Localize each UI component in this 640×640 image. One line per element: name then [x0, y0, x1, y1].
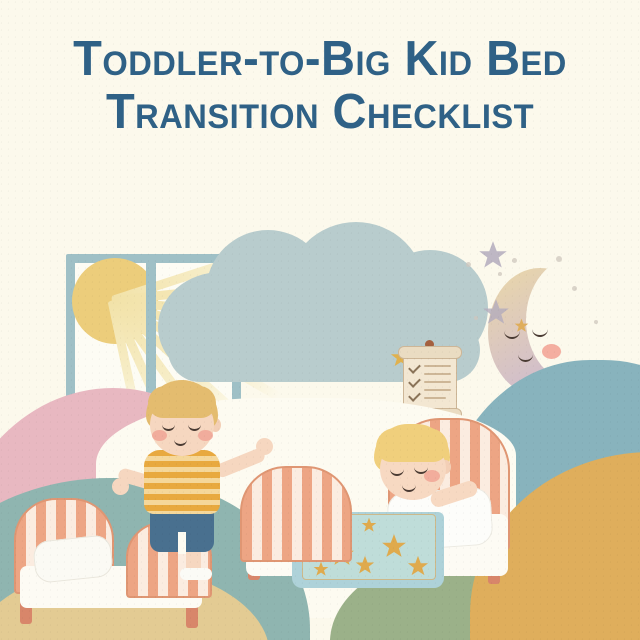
sleeping-child-hair-top: [376, 428, 448, 462]
standing-child-left-hand: [112, 478, 129, 495]
standing-child-shoe: [180, 568, 212, 580]
standing-child-right-hand: [256, 438, 273, 455]
star-icon: [514, 318, 529, 333]
standing-child-hair-top: [148, 386, 216, 418]
blanket-star-icon: [407, 555, 429, 577]
sleeping-child-blush: [424, 470, 440, 482]
star-icon: [482, 298, 510, 326]
star-icon: [478, 240, 508, 270]
blanket-star-icon: [381, 533, 407, 559]
toddler-bed-pillow: [32, 534, 114, 584]
blanket-star-icon: [355, 555, 375, 575]
illustration-canvas: Toddler-to-Big Kid Bed Transition Checkl…: [0, 0, 640, 640]
sleeping-child: [368, 424, 478, 534]
standing-child-leg-gap: [178, 532, 186, 554]
standing-child-blush: [152, 430, 167, 441]
standing-child-blush: [198, 430, 213, 441]
standing-child: [128, 380, 258, 570]
standing-child-striped-shirt: [144, 450, 220, 514]
blanket-star-icon: [313, 561, 329, 577]
